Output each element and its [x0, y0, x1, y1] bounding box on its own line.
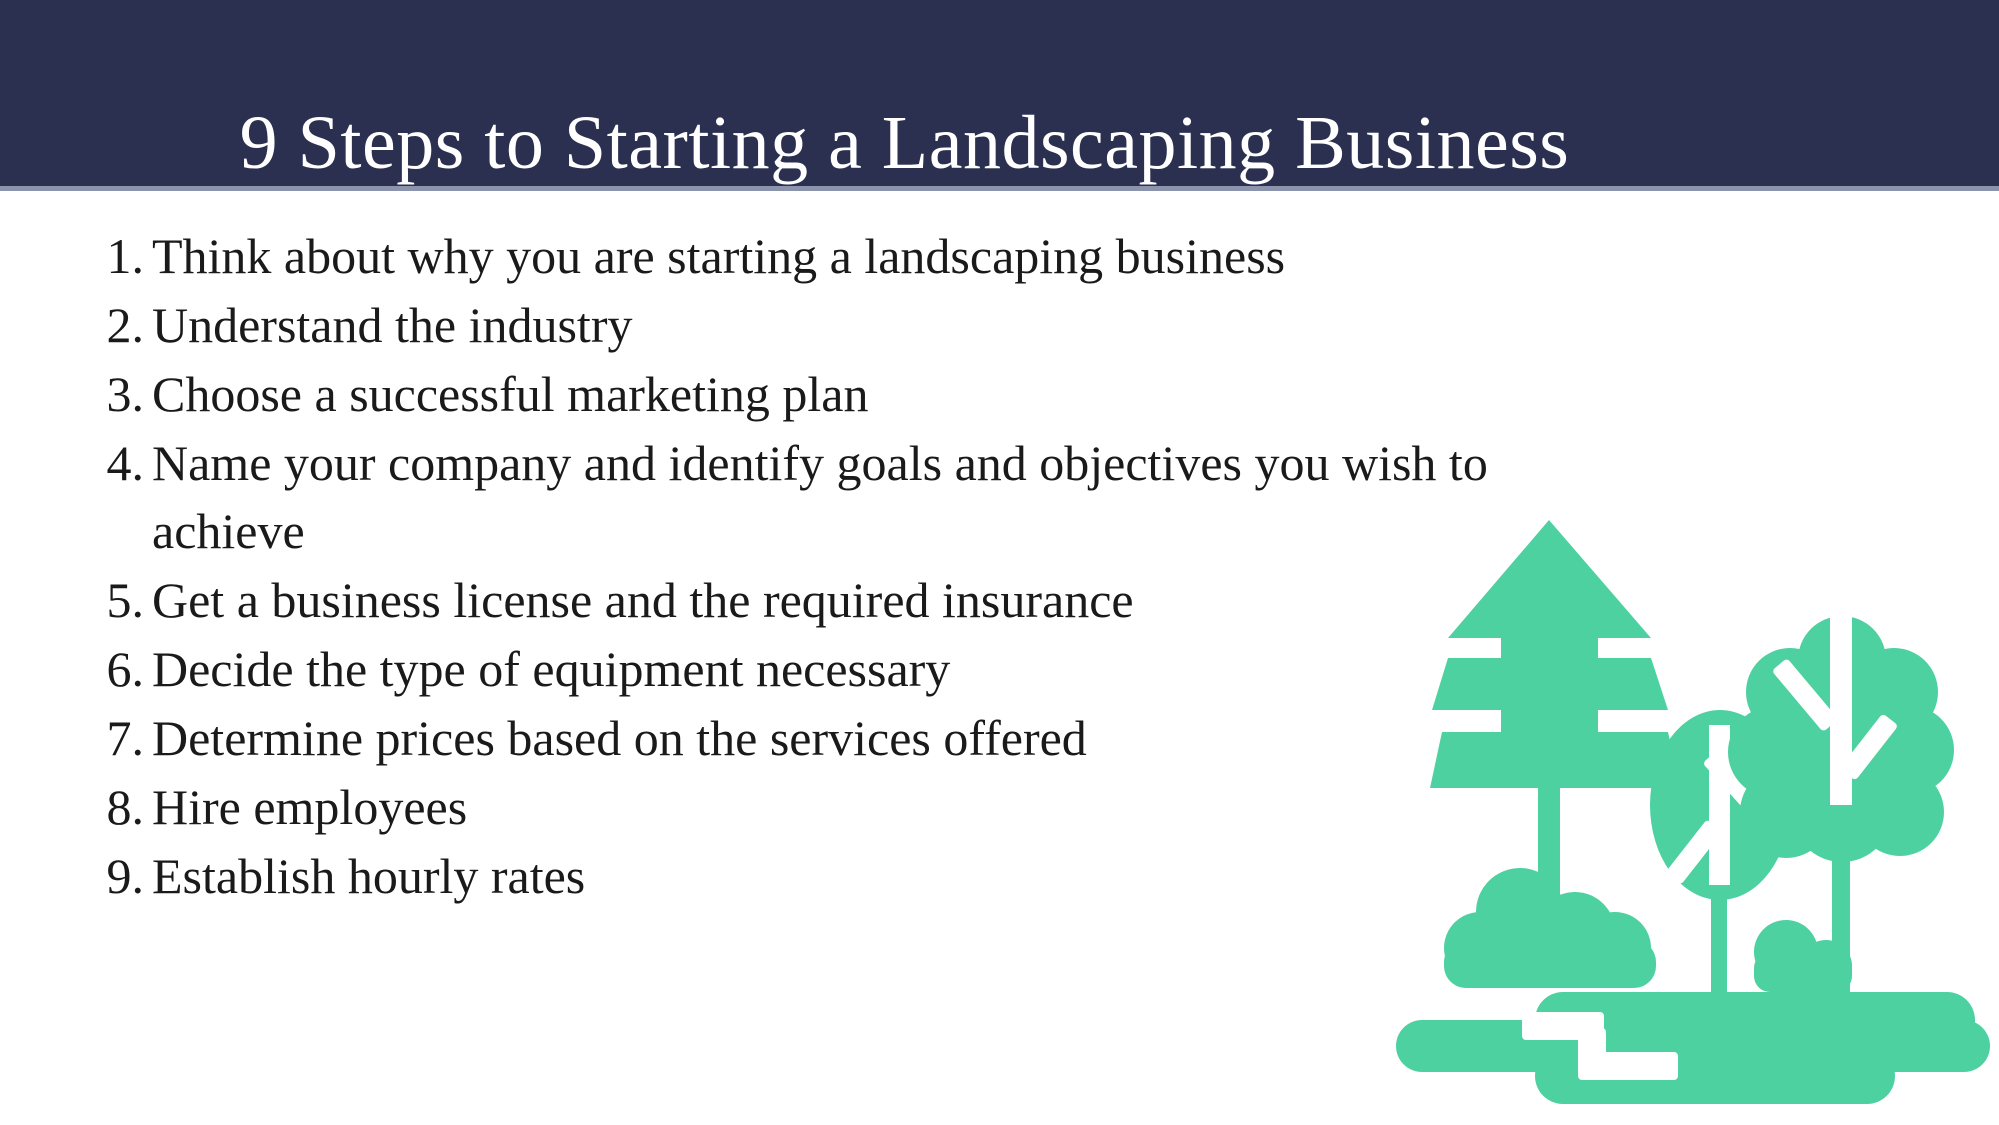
- bush-icon: [1444, 868, 1656, 988]
- landscaping-illustration: [1370, 500, 1990, 1120]
- list-item: Establish hourly rates: [148, 842, 1578, 910]
- list-item: Think about why you are starting a lands…: [148, 222, 1578, 290]
- pine-tree-icon: [1430, 520, 1680, 788]
- list-item: Name your company and identify goals and…: [148, 429, 1578, 565]
- steps-list: Think about why you are starting a lands…: [92, 222, 1578, 911]
- slide: 9 Steps to Starting a Landscaping Busine…: [0, 0, 1999, 1125]
- list-item: Decide the type of equipment necessary: [148, 635, 1578, 703]
- ground-path-icon: [1396, 992, 1990, 1104]
- list-item: Understand the industry: [148, 291, 1578, 359]
- page-title: 9 Steps to Starting a Landscaping Busine…: [0, 51, 1999, 237]
- list-item: Determine prices based on the services o…: [148, 704, 1578, 772]
- list-item: Hire employees: [148, 773, 1578, 841]
- list-item: Choose a successful marketing plan: [148, 360, 1578, 428]
- list-item: Get a business license and the required …: [148, 566, 1578, 634]
